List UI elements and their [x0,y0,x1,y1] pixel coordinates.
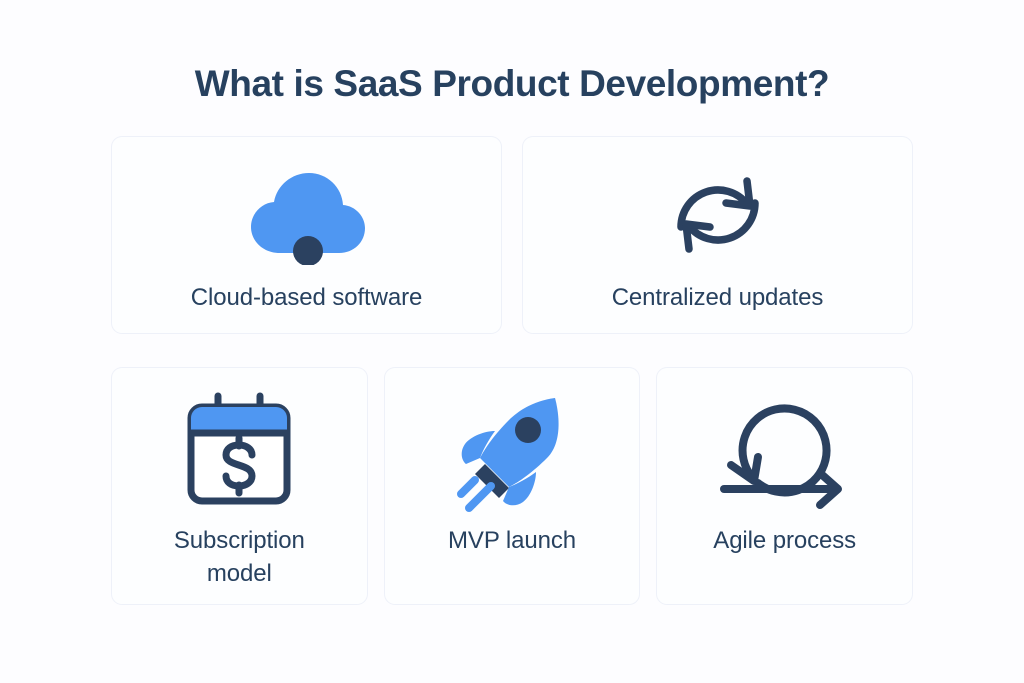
calendar-dollar-icon [177,386,301,514]
card-label-line1: Agile process [713,527,856,554]
cloud-icon [237,163,377,267]
card-agile-process[interactable]: Agile process [657,368,912,604]
card-label-line1: Subscription [174,527,305,554]
infographic-canvas: What is SaaS Product Development? Cloud-… [0,0,1024,683]
card-subscription-model[interactable]: Subscription model [112,368,367,604]
card-cloud-based-software[interactable]: Cloud-based software [112,137,501,333]
card-label: Subscription model [174,524,305,590]
card-centralized-updates[interactable]: Centralized updates [523,137,912,333]
card-label-line1: MVP launch [448,527,576,554]
rocket-icon [447,386,577,514]
card-row-top: Cloud-based software Centraliz [112,137,912,333]
agile-loop-arrow-icon [712,386,858,514]
card-label: Agile process [713,524,856,557]
card-mvp-launch[interactable]: MVP launch [385,368,640,604]
card-label: Cloud-based software [191,281,422,314]
card-label-line1: Centralized updates [612,284,824,311]
card-label-line1: Cloud-based software [191,284,422,311]
card-label-line2: model [174,557,305,590]
card-row-bottom: Subscription model [112,368,912,604]
page-title: What is SaaS Product Development? [0,63,1024,105]
card-label: MVP launch [448,524,576,557]
sync-arrows-icon [665,163,771,267]
card-label: Centralized updates [612,281,824,314]
